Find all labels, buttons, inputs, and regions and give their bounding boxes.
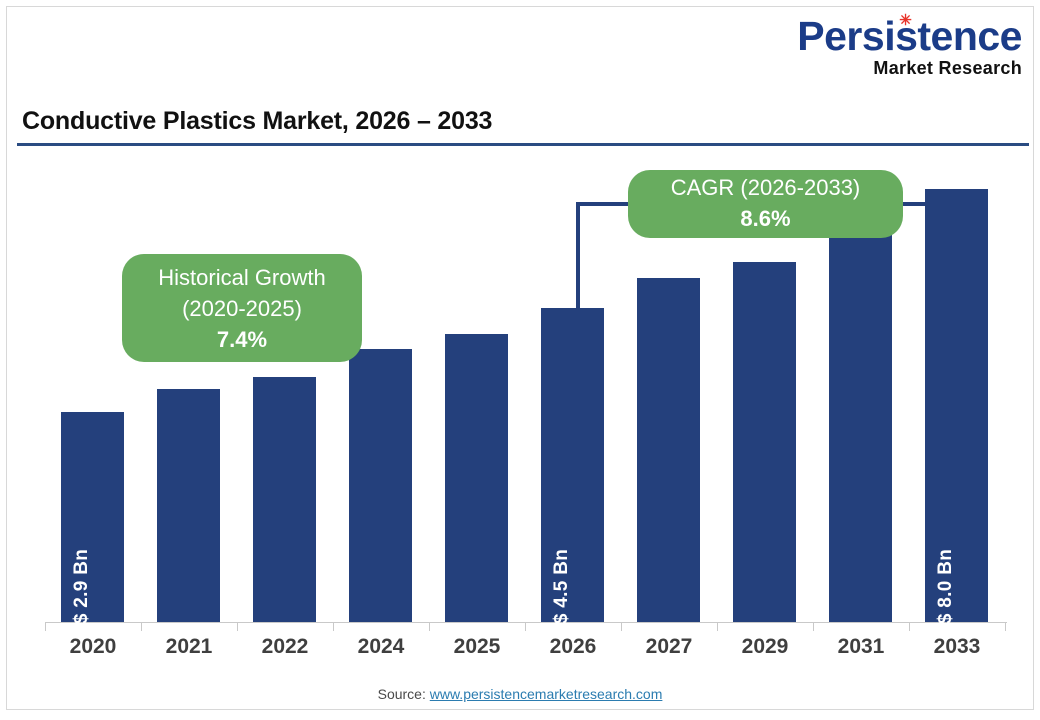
x-axis-label-2021: 2021 xyxy=(141,635,237,659)
axis-tick xyxy=(813,622,814,631)
axis-tick xyxy=(237,622,238,631)
cagr-title: CAGR (2026-2033) xyxy=(628,172,903,203)
source-prefix: Source: xyxy=(378,686,430,702)
cagr-value: 8.6% xyxy=(628,203,903,234)
axis-tick xyxy=(429,622,430,631)
title-divider xyxy=(17,143,1029,146)
axis-tick xyxy=(45,622,46,631)
bar-slot-2026: US$ 4.5 Bn xyxy=(525,160,621,622)
x-axis-label-2020: 2020 xyxy=(45,635,141,659)
source-line: Source: www.persistencemarketresearch.co… xyxy=(0,686,1040,702)
bar-slot-2022 xyxy=(237,160,333,622)
bar-2031[interactable] xyxy=(829,222,892,622)
bar-2025[interactable] xyxy=(445,334,508,622)
star-icon: ✳ xyxy=(899,15,910,26)
axis-tick xyxy=(621,622,622,631)
bar-slot-2020: US$ 2.9 Bn xyxy=(45,160,141,622)
axis-tick xyxy=(909,622,910,631)
bar-2033[interactable]: US$ 8.0 Bn xyxy=(925,189,988,622)
bar-2022[interactable] xyxy=(253,377,316,622)
cagr-badge[interactable]: CAGR (2026-2033) 8.6% xyxy=(628,170,903,238)
bar-2029[interactable] xyxy=(733,262,796,622)
page-title: Conductive Plastics Market, 2026 – 2033 xyxy=(22,107,492,136)
bar-2027[interactable] xyxy=(637,278,700,622)
bar-2020[interactable]: US$ 2.9 Bn xyxy=(61,412,124,622)
x-axis-label-2025: 2025 xyxy=(429,635,525,659)
x-axis-label-2022: 2022 xyxy=(237,635,333,659)
bar-slot-2021 xyxy=(141,160,237,622)
chart-canvas: Persistence ✳ Market Research Conductive… xyxy=(0,0,1040,720)
cagr-connector-left xyxy=(576,202,580,350)
historical-growth-period: (2020-2025) xyxy=(122,293,362,324)
logo-brand-text: Persistence ✳ xyxy=(797,16,1022,57)
cagr-connector-arrow-icon xyxy=(953,216,971,229)
x-axis-label-2027: 2027 xyxy=(621,635,717,659)
bar-slot-2024 xyxy=(333,160,429,622)
x-axis-label-2026: 2026 xyxy=(525,635,621,659)
axis-tick xyxy=(525,622,526,631)
bar-2024[interactable] xyxy=(349,349,412,622)
x-axis-label-2031: 2031 xyxy=(813,635,909,659)
bar-slot-2033: US$ 8.0 Bn xyxy=(909,160,1005,622)
bar-2021[interactable] xyxy=(157,389,220,622)
historical-growth-badge[interactable]: Historical Growth (2020-2025) 7.4% xyxy=(122,254,362,362)
bar-slot-2025 xyxy=(429,160,525,622)
x-axis-line xyxy=(45,622,1007,623)
brand-logo: Persistence ✳ Market Research xyxy=(787,16,1022,77)
bar-2026[interactable]: US$ 4.5 Bn xyxy=(541,308,604,622)
x-axis-label-2033: 2033 xyxy=(909,635,1005,659)
axis-tick xyxy=(1005,622,1006,631)
axis-tick xyxy=(333,622,334,631)
logo-tagline: Market Research xyxy=(787,59,1022,77)
axis-tick xyxy=(141,622,142,631)
source-link[interactable]: www.persistencemarketresearch.com xyxy=(430,686,663,702)
x-axis-label-2029: 2029 xyxy=(717,635,813,659)
historical-growth-value: 7.4% xyxy=(122,324,362,355)
historical-growth-title: Historical Growth xyxy=(122,262,362,293)
axis-tick xyxy=(717,622,718,631)
x-axis-label-2024: 2024 xyxy=(333,635,429,659)
